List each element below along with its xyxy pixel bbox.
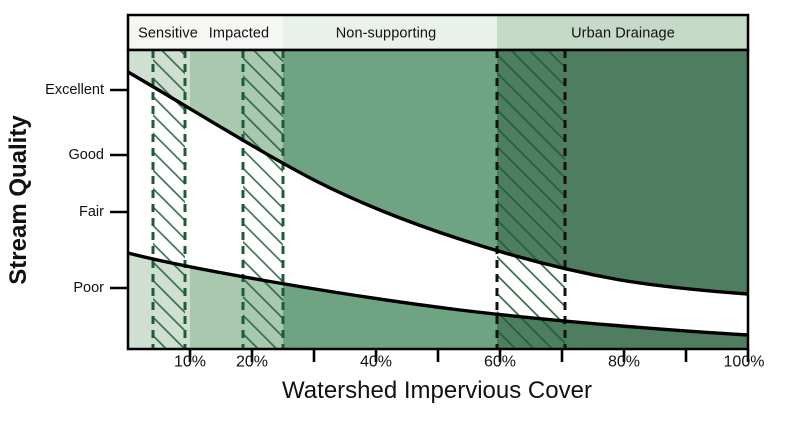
x-tick-label-100: 100% bbox=[724, 353, 765, 370]
y-tick-label-excellent: Excellent bbox=[45, 82, 104, 98]
transition-zone-2 bbox=[243, 50, 283, 349]
x-tick-label-80: 80% bbox=[608, 353, 640, 370]
category-label-urban-drainage: Urban Drainage bbox=[571, 25, 675, 41]
x-tick-label-40: 40% bbox=[360, 353, 392, 370]
transition-zone-3-hatch bbox=[497, 50, 565, 349]
impervious-cover-stream-quality-chart: Sensitive Impacted Non-supporting Urban … bbox=[0, 0, 786, 426]
x-tick-label-60: 60% bbox=[484, 353, 516, 370]
category-label-non-supporting: Non-supporting bbox=[336, 25, 437, 41]
transition-zone-3 bbox=[497, 50, 565, 349]
y-axis-title: Stream Quality bbox=[5, 115, 32, 285]
category-label-sensitive: Sensitive bbox=[138, 25, 198, 41]
category-label-impacted: Impacted bbox=[209, 25, 269, 41]
x-tick-label-20: 20% bbox=[236, 353, 268, 370]
x-axis-title: Watershed Impervious Cover bbox=[282, 377, 592, 404]
category-header-band: Sensitive Impacted Non-supporting Urban … bbox=[128, 15, 748, 50]
chart-svg: Sensitive Impacted Non-supporting Urban … bbox=[0, 0, 786, 426]
plot-area bbox=[128, 50, 748, 349]
transition-zone-2-hatch bbox=[243, 50, 283, 349]
y-tick-label-good: Good bbox=[69, 147, 104, 163]
x-tick-label-10: 10% bbox=[174, 353, 206, 370]
y-tick-label-poor: Poor bbox=[73, 280, 104, 296]
y-tick-label-fair: Fair bbox=[79, 204, 104, 220]
